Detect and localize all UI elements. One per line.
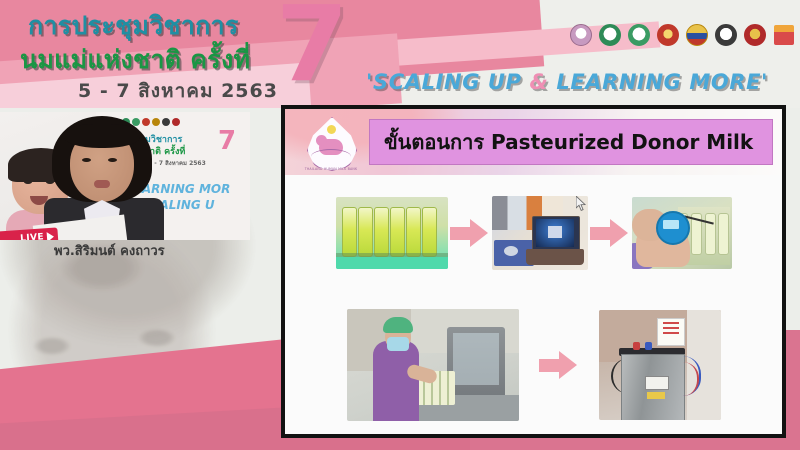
cradling-hands-icon	[311, 149, 351, 164]
process-arrow	[537, 350, 581, 380]
process-row-bottom	[285, 305, 782, 425]
live-video-inset[interactable]: การประชุมวิชาการ นมแม่แห่งชาติ ครั้งที่ …	[0, 112, 250, 240]
speaker-name: พว.สิริมนต์ คงถาวร	[54, 240, 165, 261]
photo-milk-bottles-rack	[336, 197, 448, 269]
baby-head-icon	[316, 135, 327, 146]
conference-tagline: 'SCALING UP & LEARNING MORE'	[366, 70, 768, 94]
tagline-suffix: LEARNING MORE'	[548, 70, 768, 94]
sponsor-logo-strip	[569, 22, 796, 48]
conference-title-line2: นมแม่แห่งชาติ ครั้งที่	[20, 40, 250, 80]
tagline-prefix: 'SCALING UP	[366, 70, 530, 94]
edition-number: 7	[276, 0, 348, 96]
ministry-public-health-logo	[598, 22, 622, 48]
poster-edition-number: 7	[218, 128, 236, 154]
content-panel: THAILAND HUMAN MILK BANK ขั้นตอนการ Past…	[281, 105, 786, 438]
photo-pasteurizer-machine	[599, 310, 721, 420]
conference-date: 5 - 7 สิงหาคม 2563	[78, 76, 278, 106]
tagline-ampersand: &	[530, 70, 549, 94]
thai-pediatric-logo	[685, 22, 709, 48]
photo-laptop-desk	[492, 196, 588, 270]
live-label: LIVE	[20, 232, 44, 240]
nursing-council-logo	[743, 22, 767, 48]
national-emblem-logo	[714, 22, 738, 48]
photo-thermometer-probe	[632, 197, 732, 269]
logo-caption: THAILAND HUMAN MILK BANK	[299, 167, 363, 171]
photo-nurse-lab-hood	[347, 309, 519, 421]
process-arrow	[448, 218, 492, 248]
panel-inner: THAILAND HUMAN MILK BANK ขั้นตอนการ Past…	[285, 109, 782, 434]
human-milk-bank-logo: THAILAND HUMAN MILK BANK	[299, 115, 363, 177]
process-arrow	[588, 218, 632, 248]
thaihealth-sss-logo	[772, 22, 796, 48]
slide-header: การประชุมวิชาการ นมแม่แห่งชาติ ครั้งที่ …	[0, 0, 800, 108]
mouse-cursor	[576, 196, 587, 212]
process-row-top	[285, 187, 782, 279]
presentation-slide: การประชุมวิชาการ นมแม่แห่งชาติ ครั้งที่ …	[0, 0, 800, 450]
milk-droplet-icon	[327, 125, 336, 134]
panel-title-banner: ขั้นตอนการ Pasteurized Donor Milk	[369, 119, 773, 165]
royal-crown-logo	[656, 22, 680, 48]
royal-patronage-logo	[569, 22, 593, 48]
department-health-logo	[627, 22, 651, 48]
play-icon	[47, 231, 55, 240]
panel-title: ขั้นตอนการ Pasteurized Donor Milk	[370, 126, 753, 158]
